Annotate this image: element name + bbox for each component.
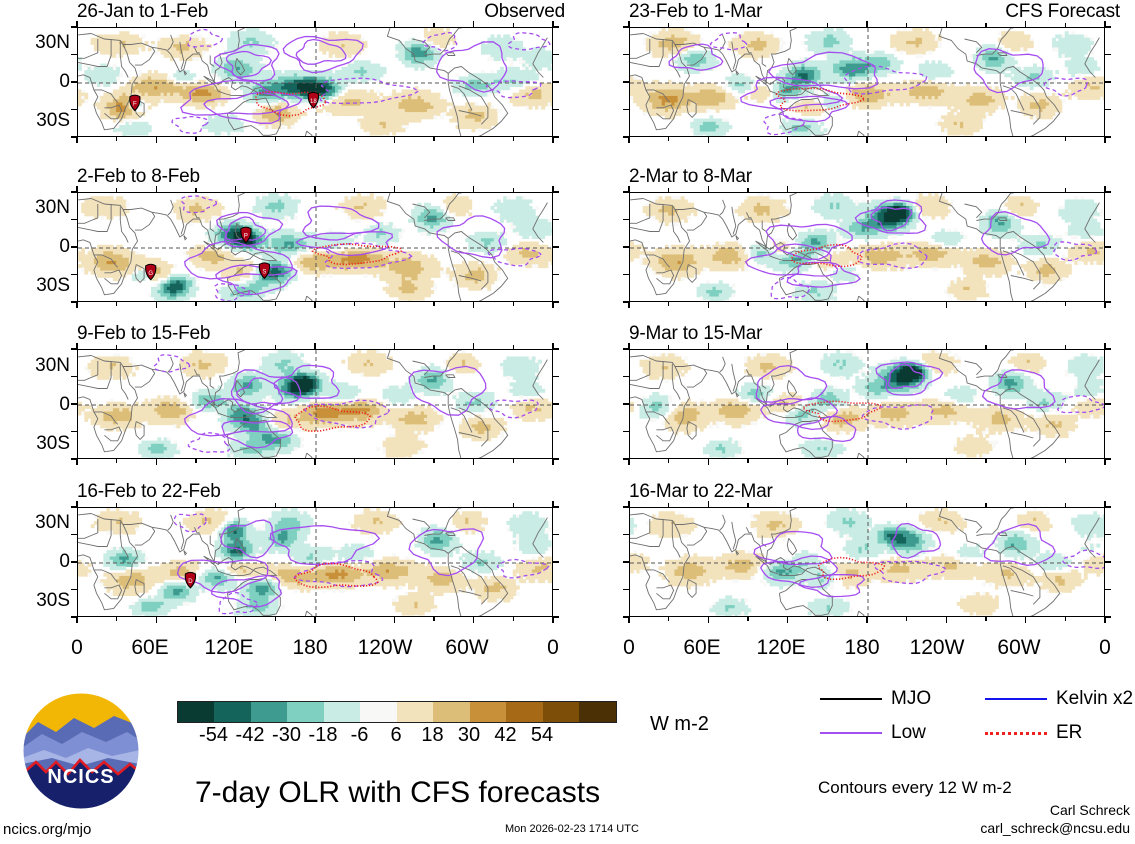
y-tick — [623, 534, 629, 536]
x-tick — [787, 302, 789, 308]
y-tick — [623, 109, 629, 111]
x-tick — [946, 501, 948, 507]
x-tick — [195, 23, 197, 27]
x-tick — [235, 343, 237, 349]
map-panel-observed-row4: D — [77, 507, 553, 617]
colorbar-segment-10 — [543, 702, 579, 722]
cyclone-marker: 18 — [308, 92, 318, 108]
colorbar-tick-6: 6 — [390, 724, 401, 747]
x-tick — [433, 345, 435, 349]
legend-item-mjo: MJO — [820, 688, 931, 710]
colorbar-segment-6 — [397, 702, 433, 722]
x-tick — [314, 186, 316, 192]
panel-title-row3-right: 9-Mar to 15-Mar — [629, 323, 762, 345]
y-tick — [553, 274, 559, 276]
xlabel-right-180: 180 — [832, 636, 892, 660]
x-tick — [275, 345, 277, 349]
y-tick — [1105, 246, 1111, 248]
x-tick — [394, 459, 396, 465]
x-tick — [76, 137, 78, 143]
xlabel-left-0: 0 — [52, 636, 102, 660]
xlabel-left-60W: 60W — [432, 636, 502, 660]
ncics-logo-text: NCICS — [22, 766, 140, 789]
ncics-logo: NCICS — [22, 692, 140, 810]
x-tick — [708, 343, 710, 349]
y-tick — [553, 81, 559, 83]
y-tick — [553, 348, 559, 350]
colorbar-tick-54: 54 — [531, 724, 553, 747]
y-tick — [1105, 589, 1111, 591]
x-tick — [275, 188, 277, 192]
xlabel-left-60E: 60E — [120, 636, 180, 660]
x-tick — [1065, 345, 1067, 349]
y-tick — [71, 376, 77, 378]
x-tick — [946, 343, 948, 349]
xlabel-right-0-end: 0 — [1080, 636, 1130, 660]
x-tick — [747, 617, 749, 621]
x-tick — [314, 459, 316, 465]
x-tick — [433, 137, 435, 141]
column-header-observed: Observed — [300, 1, 565, 23]
xlabel-right-120W: 120W — [897, 636, 977, 660]
y-tick — [553, 26, 559, 28]
x-tick — [1104, 617, 1106, 623]
y-tick — [71, 348, 77, 350]
x-tick — [866, 617, 868, 623]
y-tick — [623, 376, 629, 378]
x-tick — [235, 501, 237, 507]
y-tick — [553, 458, 559, 460]
panel-title-row1-left: 26-Jan to 1-Feb — [77, 1, 208, 23]
x-tick — [787, 186, 789, 192]
x-tick — [1025, 501, 1027, 507]
svg-text:18: 18 — [310, 99, 317, 105]
panel-title-row3-left: 9-Feb to 15-Feb — [77, 323, 210, 345]
x-tick — [156, 617, 158, 623]
ylabel-row2-30S: 30S — [0, 275, 70, 297]
x-tick — [787, 343, 789, 349]
y-tick — [1105, 348, 1111, 350]
x-tick — [473, 302, 475, 308]
y-tick — [623, 458, 629, 460]
x-tick — [946, 137, 948, 143]
x-tick — [946, 302, 948, 308]
x-tick — [552, 137, 554, 143]
y-tick — [71, 561, 77, 563]
x-tick — [116, 302, 118, 306]
x-tick — [708, 501, 710, 507]
contour-interval-note: Contours every 12 W m-2 — [818, 778, 1012, 798]
x-tick — [433, 503, 435, 507]
svg-text:F: F — [133, 102, 137, 108]
ylabel-row4-0: 0 — [0, 551, 70, 573]
x-tick — [552, 302, 554, 308]
x-tick — [985, 459, 987, 463]
x-tick — [985, 503, 987, 507]
x-tick — [235, 21, 237, 27]
x-tick — [473, 617, 475, 623]
x-tick — [195, 302, 197, 306]
x-tick — [668, 23, 670, 27]
colorbar-segment-5 — [360, 702, 396, 722]
map-panel-forecast-row2 — [629, 192, 1105, 302]
x-tick — [906, 617, 908, 621]
x-tick — [473, 186, 475, 192]
x-tick — [394, 186, 396, 192]
x-tick — [747, 188, 749, 192]
x-tick — [985, 23, 987, 27]
x-tick — [394, 21, 396, 27]
y-tick — [623, 274, 629, 276]
colorbar-tick-30: 30 — [458, 724, 480, 747]
x-tick — [314, 302, 316, 308]
x-tick — [628, 617, 630, 623]
ylabel-row1-0: 0 — [0, 71, 70, 93]
y-tick — [1105, 54, 1111, 56]
y-tick — [1105, 506, 1111, 508]
y-tick — [71, 54, 77, 56]
main-title: 7-day OLR with CFS forecasts — [195, 776, 600, 810]
x-tick — [513, 188, 515, 192]
y-tick — [1105, 616, 1111, 618]
x-tick — [668, 503, 670, 507]
author-email: carl_schreck@ncsu.edu — [880, 820, 1130, 836]
x-tick — [314, 501, 316, 507]
map-panel-forecast-row1 — [629, 27, 1105, 137]
map-panel-observed-row2: GPS — [77, 192, 553, 302]
x-tick — [552, 617, 554, 623]
map-panel-forecast-row4 — [629, 507, 1105, 617]
x-tick — [1065, 188, 1067, 192]
map-panel-observed-row3 — [77, 349, 553, 459]
colorbar-segment-8 — [470, 702, 506, 722]
ylabel-row2-30N: 30N — [0, 197, 70, 219]
x-tick — [76, 617, 78, 623]
x-tick — [708, 459, 710, 465]
x-tick — [747, 137, 749, 141]
xlabel-left-120E: 120E — [194, 636, 264, 660]
colorbar-tick--6: -6 — [351, 724, 369, 747]
x-tick — [195, 188, 197, 192]
x-tick — [1065, 23, 1067, 27]
legend-item-low: Low — [820, 722, 926, 744]
x-tick — [827, 137, 829, 141]
y-tick — [553, 136, 559, 138]
colorbar-segment-0 — [178, 702, 214, 722]
xlabel-left-120W: 120W — [345, 636, 425, 660]
y-tick — [553, 301, 559, 303]
y-tick — [1105, 376, 1111, 378]
y-tick — [623, 136, 629, 138]
x-tick — [628, 137, 630, 143]
x-tick — [787, 501, 789, 507]
x-tick — [787, 137, 789, 143]
y-tick — [623, 506, 629, 508]
x-tick — [1025, 343, 1027, 349]
x-tick — [985, 302, 987, 306]
x-tick — [668, 302, 670, 306]
y-tick — [623, 81, 629, 83]
y-tick — [71, 191, 77, 193]
x-tick — [116, 345, 118, 349]
ylabel-row1-30N: 30N — [0, 32, 70, 54]
site-url[interactable]: ncics.org/mjo — [3, 821, 91, 838]
colorbar-segment-11 — [579, 702, 615, 722]
x-tick — [354, 503, 356, 507]
x-tick — [628, 459, 630, 465]
x-tick — [275, 459, 277, 463]
x-tick — [827, 188, 829, 192]
panel-title-row2-left: 2-Feb to 8-Feb — [77, 166, 200, 188]
legend-label-kelvin: Kelvin x2 — [1056, 688, 1133, 710]
x-tick — [1025, 137, 1027, 143]
x-tick — [354, 459, 356, 463]
x-tick — [866, 343, 868, 349]
y-tick — [623, 301, 629, 303]
y-tick — [71, 616, 77, 618]
y-tick — [553, 376, 559, 378]
ylabel-row1-30S: 30S — [0, 110, 70, 132]
x-tick — [235, 186, 237, 192]
x-tick — [473, 501, 475, 507]
x-tick — [76, 459, 78, 465]
x-tick — [906, 459, 908, 463]
x-tick — [906, 23, 908, 27]
y-tick — [1105, 458, 1111, 460]
colorbar-tick--18: -18 — [309, 724, 338, 747]
panel-title-row4-left: 16-Feb to 22-Feb — [77, 481, 221, 503]
map-panel-observed-row1: F18 — [77, 27, 553, 137]
x-tick — [1025, 302, 1027, 308]
x-tick — [1025, 21, 1027, 27]
x-tick — [195, 503, 197, 507]
x-tick — [235, 617, 237, 623]
y-tick — [71, 219, 77, 221]
x-tick — [708, 137, 710, 143]
colorbar-tick-18: 18 — [421, 724, 443, 747]
y-tick — [623, 561, 629, 563]
panel-title-row2-right: 2-Mar to 8-Mar — [629, 166, 752, 188]
y-tick — [623, 219, 629, 221]
x-tick — [473, 137, 475, 143]
xlabel-left-0-end: 0 — [528, 636, 578, 660]
map-panel-observed-row2-canvas: GPS — [78, 193, 553, 302]
y-tick — [623, 616, 629, 618]
colorbar-segment-7 — [433, 702, 469, 722]
x-tick — [513, 137, 515, 141]
x-tick — [394, 302, 396, 308]
y-tick — [1105, 136, 1111, 138]
xlabel-right-60W: 60W — [984, 636, 1054, 660]
x-tick — [827, 302, 829, 306]
x-tick — [156, 343, 158, 349]
x-tick — [946, 21, 948, 27]
x-tick — [827, 503, 829, 507]
y-tick — [1105, 219, 1111, 221]
x-tick — [473, 343, 475, 349]
x-tick — [668, 188, 670, 192]
x-tick — [906, 503, 908, 507]
x-tick — [275, 503, 277, 507]
x-tick — [195, 617, 197, 621]
ylabel-row3-30N: 30N — [0, 355, 70, 377]
ylabel-row3-0: 0 — [0, 394, 70, 416]
x-tick — [668, 617, 670, 621]
x-tick — [235, 459, 237, 465]
xlabel-right-0: 0 — [604, 636, 654, 660]
y-tick — [553, 191, 559, 193]
x-tick — [1065, 503, 1067, 507]
y-tick — [623, 246, 629, 248]
x-tick — [866, 21, 868, 27]
x-tick — [827, 23, 829, 27]
x-tick — [827, 459, 829, 463]
legend-item-kelvin: Kelvin x2 — [985, 688, 1133, 710]
y-tick — [71, 274, 77, 276]
x-tick — [708, 21, 710, 27]
map-panel-forecast-row3 — [629, 349, 1105, 459]
map-panel-observed-row1-canvas: F18 — [78, 28, 553, 137]
x-tick — [1065, 302, 1067, 306]
map-panel-observed-row4-canvas: D — [78, 508, 553, 617]
x-tick — [906, 188, 908, 192]
legend-label-er: ER — [1056, 722, 1082, 744]
x-tick — [1104, 459, 1106, 465]
y-tick — [623, 191, 629, 193]
map-panel-forecast-row2-canvas — [630, 193, 1105, 302]
x-tick — [354, 137, 356, 141]
x-tick — [708, 617, 710, 623]
x-tick — [747, 503, 749, 507]
x-tick — [275, 617, 277, 621]
y-tick — [623, 431, 629, 433]
x-tick — [787, 21, 789, 27]
x-tick — [787, 617, 789, 623]
x-tick — [906, 137, 908, 141]
xlabel-left-180: 180 — [280, 636, 340, 660]
x-tick — [354, 345, 356, 349]
x-tick — [195, 345, 197, 349]
y-tick — [623, 26, 629, 28]
legend-line-er — [985, 732, 1047, 735]
y-tick — [1105, 26, 1111, 28]
x-tick — [76, 302, 78, 308]
x-tick — [827, 617, 829, 621]
y-tick — [553, 246, 559, 248]
y-tick — [1105, 561, 1111, 563]
y-tick — [553, 109, 559, 111]
x-tick — [513, 302, 515, 306]
x-tick — [314, 617, 316, 623]
x-tick — [1065, 459, 1067, 463]
colorbar-segment-9 — [506, 702, 542, 722]
x-tick — [116, 617, 118, 621]
legend-line-kelvin — [985, 698, 1047, 700]
y-tick — [71, 589, 77, 591]
y-tick — [553, 534, 559, 536]
x-tick — [314, 21, 316, 27]
x-tick — [156, 186, 158, 192]
x-tick — [787, 459, 789, 465]
ncics-logo-graphic — [22, 692, 140, 810]
y-tick — [553, 403, 559, 405]
x-tick — [708, 186, 710, 192]
x-tick — [116, 188, 118, 192]
x-tick — [433, 617, 435, 621]
x-tick — [747, 459, 749, 463]
ylabel-row4-30N: 30N — [0, 512, 70, 534]
map-panel-forecast-row1-canvas — [630, 28, 1105, 137]
x-tick — [195, 459, 197, 463]
colorbar-tick-42: 42 — [494, 724, 516, 747]
x-tick — [116, 23, 118, 27]
x-tick — [1025, 617, 1027, 623]
colorbar-tick--30: -30 — [272, 724, 301, 747]
x-tick — [866, 501, 868, 507]
x-tick — [156, 302, 158, 308]
author-name: Carl Schreck — [880, 802, 1130, 818]
x-tick — [275, 302, 277, 306]
y-tick — [553, 506, 559, 508]
y-tick — [71, 301, 77, 303]
x-tick — [116, 459, 118, 463]
colorbar-segment-2 — [251, 702, 287, 722]
y-tick — [71, 246, 77, 248]
x-tick — [116, 137, 118, 141]
y-tick — [1105, 403, 1111, 405]
x-tick — [1065, 617, 1067, 621]
x-tick — [866, 137, 868, 143]
y-tick — [71, 458, 77, 460]
x-tick — [513, 345, 515, 349]
panel-title-row1-right: 23-Feb to 1-Mar — [629, 1, 762, 23]
x-tick — [946, 186, 948, 192]
x-tick — [354, 617, 356, 621]
y-tick — [553, 589, 559, 591]
timestamp: Mon 2026-02-23 1714 UTC — [505, 823, 639, 835]
x-tick — [985, 188, 987, 192]
legend-label-low: Low — [891, 722, 926, 744]
y-tick — [553, 54, 559, 56]
map-panel-forecast-row4-canvas — [630, 508, 1105, 617]
y-tick — [71, 506, 77, 508]
x-tick — [985, 345, 987, 349]
colorbar-segment-3 — [287, 702, 323, 722]
x-tick — [985, 617, 987, 621]
x-tick — [354, 188, 356, 192]
x-tick — [866, 302, 868, 308]
y-tick — [553, 431, 559, 433]
colorbar-units-label: W m-2 — [650, 713, 709, 736]
y-tick — [553, 561, 559, 563]
x-tick — [433, 459, 435, 463]
x-tick — [156, 137, 158, 143]
colorbar-segment-1 — [214, 702, 250, 722]
ylabel-row3-30S: 30S — [0, 433, 70, 455]
x-tick — [668, 137, 670, 141]
y-tick — [71, 403, 77, 405]
x-tick — [156, 459, 158, 465]
x-tick — [866, 186, 868, 192]
ylabel-row4-30S: 30S — [0, 590, 70, 612]
x-tick — [827, 345, 829, 349]
y-tick — [1105, 431, 1111, 433]
y-tick — [623, 54, 629, 56]
x-tick — [156, 501, 158, 507]
x-tick — [866, 459, 868, 465]
x-tick — [668, 345, 670, 349]
y-tick — [71, 81, 77, 83]
